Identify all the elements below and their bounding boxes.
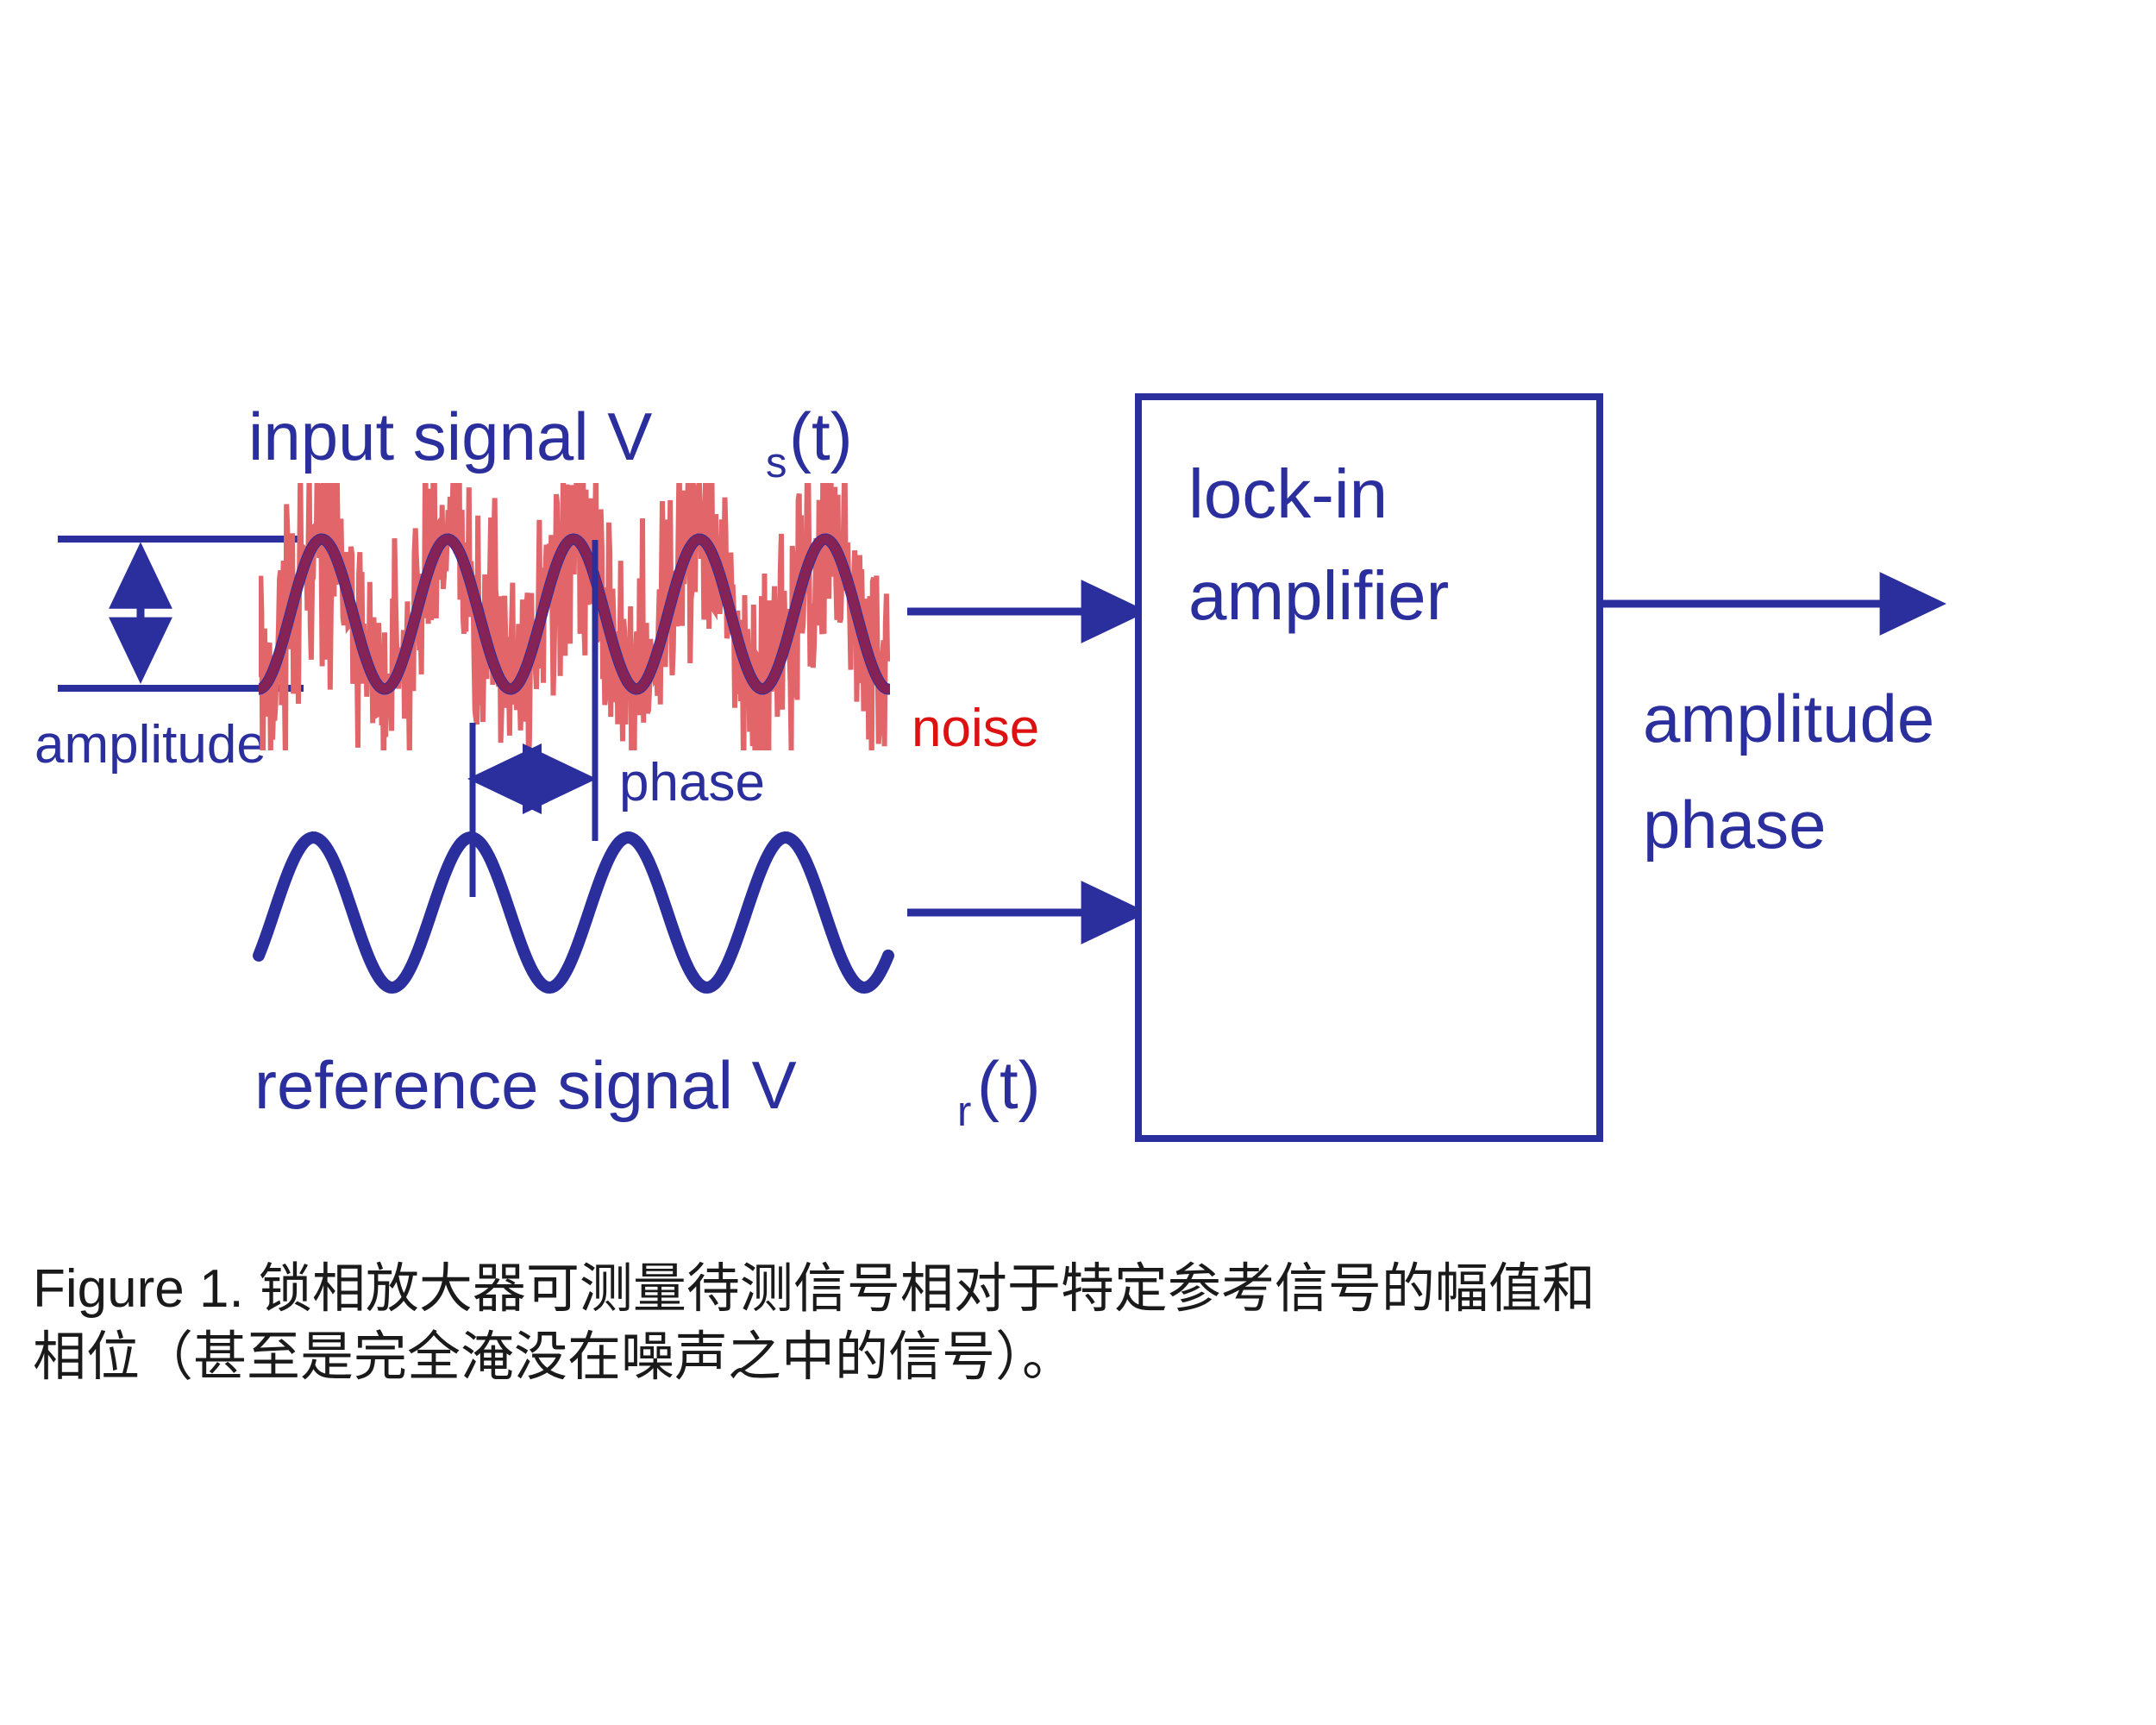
reference-signal-subscript: r [957, 1088, 971, 1135]
reference-signal-tail: (t) [977, 1047, 1041, 1123]
lock-in-amplifier-diagram: input signal V s (t) amplitude phase noi… [0, 0, 2156, 1225]
reference-signal-label: reference signal V [254, 1047, 797, 1123]
input-signal-subscript: s [766, 440, 787, 486]
noise-label: noise [912, 699, 1039, 758]
block-label-line2: amplifier [1188, 557, 1449, 634]
figure-caption: Figure 1. 锁相放大器可测量待测信号相对于特定参考信号的幅值和 相位（甚… [33, 1255, 2128, 1392]
input-signal-title: input signal V s (t) [248, 398, 853, 486]
caption-line-2: 相位（甚至是完全淹没在噪声之中的信号）。 [33, 1323, 2128, 1391]
figure-root: input signal V s (t) amplitude phase noi… [0, 0, 2156, 1725]
amplitude-left-label: amplitude [34, 715, 266, 775]
output-phase-label: phase [1643, 787, 1827, 862]
reference-signal-waveform [259, 837, 888, 988]
output-amplitude-label: amplitude [1643, 681, 1934, 756]
phase-label: phase [619, 753, 765, 812]
caption-line-1: Figure 1. 锁相放大器可测量待测信号相对于特定参考信号的幅值和 [33, 1255, 2128, 1323]
reference-signal-title: reference signal V r (t) [254, 1047, 1041, 1135]
input-signal-label: input signal V [248, 398, 652, 474]
block-label-line1: lock-in [1188, 455, 1388, 532]
lock-in-amplifier-block[interactable]: lock-in amplifier [1138, 397, 1600, 1138]
input-signal-tail: (t) [789, 398, 853, 474]
